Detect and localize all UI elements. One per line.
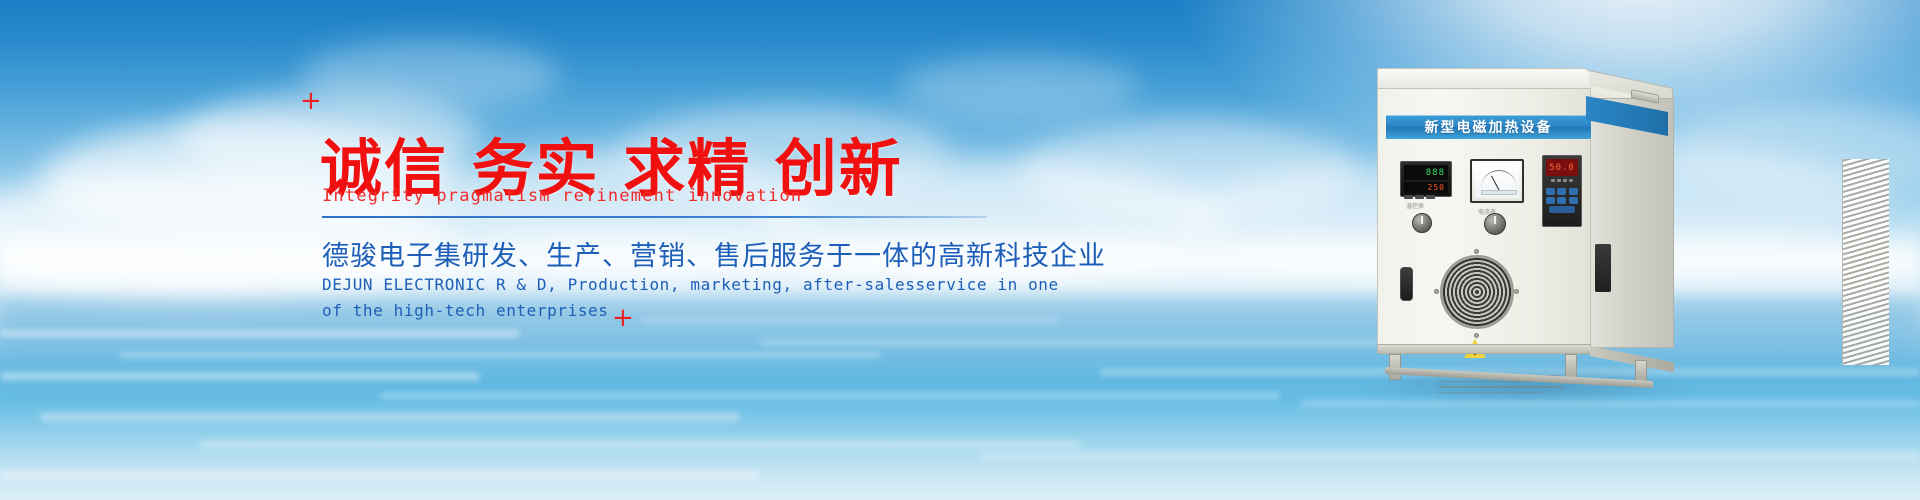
inverter-key-right[interactable] <box>1569 197 1578 204</box>
knob-pointer-icon <box>1421 216 1423 224</box>
inverter-key-enter[interactable] <box>1557 197 1566 204</box>
label-line <box>1438 392 1542 394</box>
indicator-led <box>1569 179 1573 182</box>
machine-nameplate: 新型电磁加热设备 <box>1386 115 1591 139</box>
front-connector-port <box>1400 267 1413 301</box>
promo-banner: + 诚信 务实 求精 创新 Integrity pragmatism refin… <box>0 0 1920 500</box>
inverter-key[interactable] <box>1546 188 1555 195</box>
temperature-display-primary: 888 <box>1404 165 1448 180</box>
inverter-key-grid[interactable] <box>1546 188 1578 213</box>
temp-button[interactable] <box>1426 195 1435 199</box>
knob-pointer-icon <box>1494 216 1496 224</box>
cooling-fan-grille-icon <box>1440 255 1514 329</box>
banner-text-block: + 诚信 务实 求精 创新 Integrity pragmatism refin… <box>0 0 1100 500</box>
product-heating-machine: 新型电磁加热设备 888 250 温控表 <box>1373 68 1693 428</box>
control-knob-adjust[interactable] <box>1484 213 1506 235</box>
temperature-controller-label: 温控表 <box>1406 201 1424 210</box>
temperature-value: 888 <box>1426 168 1445 178</box>
analog-ammeter <box>1470 159 1524 203</box>
fan-screw <box>1474 249 1479 254</box>
side-access-panel <box>1595 244 1611 292</box>
inverter-display: 50.0 <box>1546 159 1578 176</box>
indicator-led <box>1557 179 1561 182</box>
inverter-indicator-leds <box>1546 179 1578 182</box>
description-english-line-2: of the high-tech enterprises <box>322 301 609 320</box>
water-streak <box>980 452 1920 460</box>
label-line <box>1438 386 1564 388</box>
ammeter-scale-arc <box>1481 170 1517 188</box>
divider-rule <box>322 216 987 218</box>
inverter-key[interactable] <box>1569 188 1578 195</box>
control-knob-power[interactable] <box>1412 213 1432 233</box>
machine-top-lid <box>1377 68 1591 90</box>
machine-foot <box>1635 360 1647 382</box>
description-chinese: 德骏电子集研发、生产、营销、售后服务于一体的高新科技企业 <box>322 234 1106 273</box>
temp-button[interactable] <box>1415 195 1424 199</box>
inverter-key-left[interactable] <box>1546 197 1555 204</box>
machine-front-face: 新型电磁加热设备 888 250 温控表 <box>1377 88 1591 346</box>
indicator-led <box>1551 179 1555 182</box>
fan-screw <box>1434 289 1439 294</box>
indicator-led <box>1563 179 1567 182</box>
machine-nameplate-text: 新型电磁加热设备 <box>1425 117 1553 137</box>
machine-base <box>1377 344 1591 354</box>
machine-side-face <box>1590 98 1674 348</box>
temp-button[interactable] <box>1404 195 1413 199</box>
temperature-setpoint-value: 250 <box>1428 183 1445 192</box>
decorative-cross-icon: + <box>300 88 322 114</box>
ventilation-louvers-icon <box>1842 159 1889 365</box>
inverter-keypad[interactable]: 50.0 <box>1542 155 1582 227</box>
description-english-line-1: DEJUN ELECTRONIC R & D, Production, mark… <box>322 275 1059 294</box>
decorative-cross-icon: + <box>612 305 634 331</box>
ammeter-badge <box>1481 190 1517 195</box>
temperature-controller[interactable]: 888 250 <box>1400 161 1452 197</box>
inverter-value: 50.0 <box>1549 163 1575 173</box>
temperature-buttons[interactable] <box>1404 195 1448 199</box>
fan-screw <box>1474 333 1479 338</box>
inverter-key-run[interactable] <box>1549 206 1575 213</box>
headline-english: Integrity pragmatism refinement innovati… <box>322 186 802 206</box>
temperature-display-secondary: 250 <box>1404 182 1448 193</box>
fan-screw <box>1514 289 1519 294</box>
inverter-key-up[interactable] <box>1557 188 1566 195</box>
ammeter-face <box>1475 164 1519 198</box>
